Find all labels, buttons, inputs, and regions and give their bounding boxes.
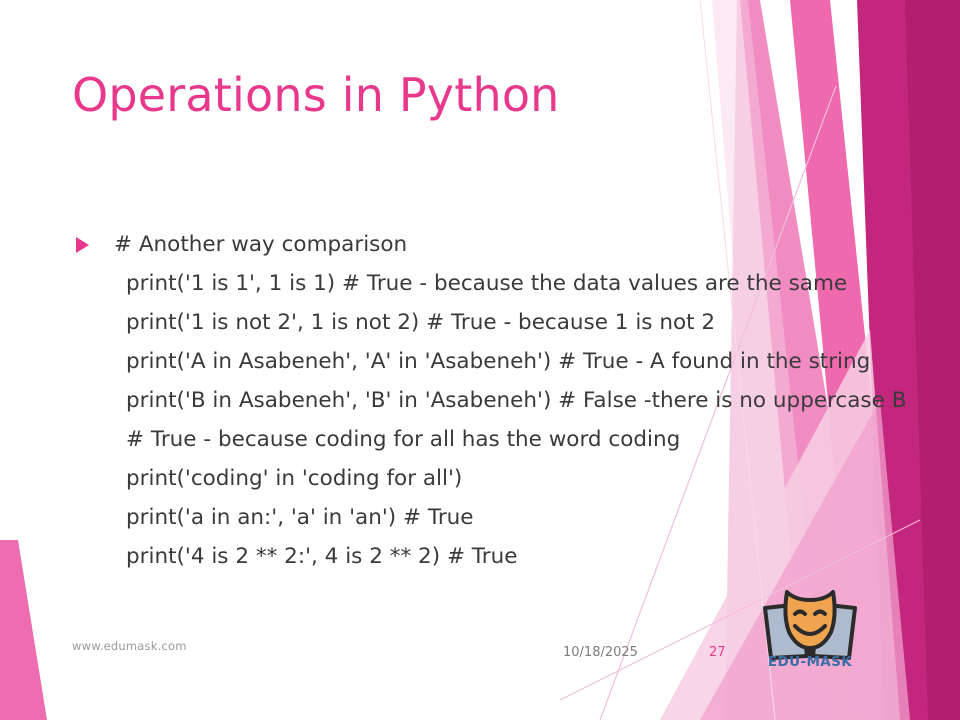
code-line: print('B in Asabeneh', 'B' in 'Asabeneh'… <box>72 384 902 423</box>
line-text: # Another way comparison <box>114 232 407 257</box>
code-line: print('A in Asabeneh', 'A' in 'Asabeneh'… <box>72 345 902 384</box>
footer-slide-number: 27 <box>709 645 726 660</box>
line-text: print('B in Asabeneh', 'B' in 'Asabeneh'… <box>126 388 906 413</box>
line-text: print('A in Asabeneh', 'A' in 'Asabeneh'… <box>126 349 870 374</box>
line-text: print('1 is not 2', 1 is not 2) # True -… <box>126 310 715 335</box>
slide-canvas: Operations in Python # Another way compa… <box>0 0 960 720</box>
deco-right-magenta-dark <box>905 0 960 720</box>
code-line: print('1 is not 2', 1 is not 2) # True -… <box>72 306 902 345</box>
line-text: print('coding' in 'coding for all') <box>126 466 462 491</box>
code-line: print('1 is 1', 1 is 1) # True - because… <box>72 267 902 306</box>
bullet-triangle-icon <box>76 237 89 253</box>
theatre-mask <box>785 592 834 648</box>
bullet-list-item: # Another way comparison <box>72 228 902 267</box>
line-text: print('1 is 1', 1 is 1) # True - because… <box>126 271 847 296</box>
code-line: # True - because coding for all has the … <box>72 423 902 462</box>
footer-date: 10/18/2025 <box>563 645 638 660</box>
line-text: # True - because coding for all has the … <box>126 427 680 452</box>
code-line: print('a in an:', 'a' in 'an') # True <box>72 501 902 540</box>
page-title: Operations in Python <box>72 68 560 122</box>
deco-left-triangle <box>0 540 47 720</box>
footer-website-url: www.edumask.com <box>72 639 187 653</box>
line-text: print('4 is 2 ** 2:', 4 is 2 ** 2) # Tru… <box>126 544 517 569</box>
code-line: print('4 is 2 ** 2:', 4 is 2 ** 2) # Tru… <box>72 540 902 579</box>
body-content: # Another way comparisonprint('1 is 1', … <box>72 228 902 579</box>
code-line: print('coding' in 'coding for all') <box>72 462 902 501</box>
edu-mask-logo-label: EDU-MASK <box>757 654 863 670</box>
line-text: print('a in an:', 'a' in 'an') # True <box>126 505 474 530</box>
